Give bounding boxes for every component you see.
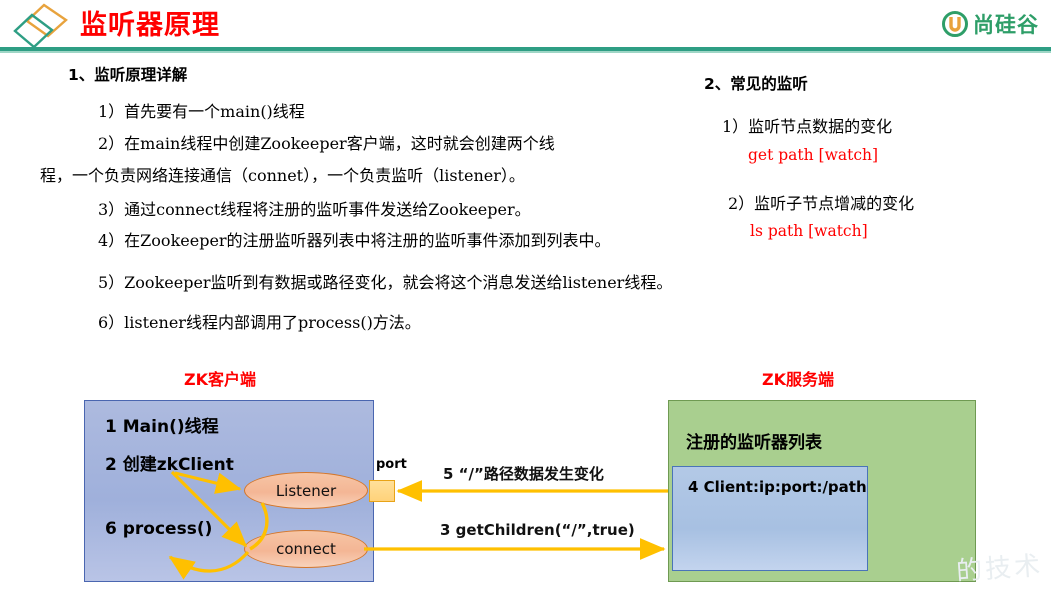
right-code-2: ls path [watch] <box>750 222 868 240</box>
u-circle-icon <box>942 11 968 37</box>
listener-node[interactable]: Listener <box>244 472 368 509</box>
brand-logo: 尚硅谷 <box>942 9 1039 39</box>
left-item-6: 6）listener线程内部调用了process()方法。 <box>98 309 421 333</box>
left-heading: 1、监听原理详解 <box>68 63 187 85</box>
right-code-1: get path [watch] <box>748 146 878 164</box>
left-item-5: 5）Zookeeper监听到有数据或路径变化，就会将这个消息发送给listene… <box>98 269 672 293</box>
client-caption: ZK客户端 <box>170 366 270 390</box>
page-title: 监听器原理 <box>80 6 220 46</box>
right-item-1: 1）监听节点数据的变化 <box>722 113 892 137</box>
arrow-label-getchildren: 3 getChildren(“/”,true) <box>440 521 635 539</box>
slide-root: 监听器原理 尚硅谷 1、监听原理详解 1）首先要有一个main()线程 2）在m… <box>0 0 1051 591</box>
watermark: 的技术 <box>955 545 1044 588</box>
server-list-title: 注册的监听器列表 <box>686 428 822 453</box>
port-label: port <box>376 457 407 472</box>
server-caption: ZK服务端 <box>748 366 848 390</box>
client-line-main: 1 Main()线程 <box>105 412 219 437</box>
right-heading: 2、常见的监听 <box>704 72 808 94</box>
brand-text: 尚硅谷 <box>973 9 1039 39</box>
left-item-2-cont: 程，一个负责网络连接通信（connet），一个负责监听（listener）。 <box>40 162 525 186</box>
header-divider <box>0 47 1051 51</box>
left-item-4: 4）在Zookeeper的注册监听器列表中将注册的监听事件添加到列表中。 <box>98 227 611 251</box>
client-line-process: 6 process() <box>105 519 212 539</box>
left-item-3: 3）通过connect线程将注册的监听事件发送给Zookeeper。 <box>98 196 531 220</box>
connect-node[interactable]: connect <box>244 530 368 568</box>
port-square <box>369 480 395 502</box>
diamonds-logo-icon <box>12 3 70 49</box>
left-item-2: 2）在main线程中创建Zookeeper客户端，这时就会创建两个线 <box>98 130 555 154</box>
left-item-1: 1）首先要有一个main()线程 <box>98 98 305 122</box>
watcher-entry: 4 Client:ip:port:/path <box>688 478 867 496</box>
right-item-2: 2）监听子节点增减的变化 <box>728 190 914 214</box>
client-line-create: 2 创建zkClient <box>105 450 234 475</box>
arrow-label-notify: 5 “/”路径数据发生变化 <box>443 463 604 484</box>
